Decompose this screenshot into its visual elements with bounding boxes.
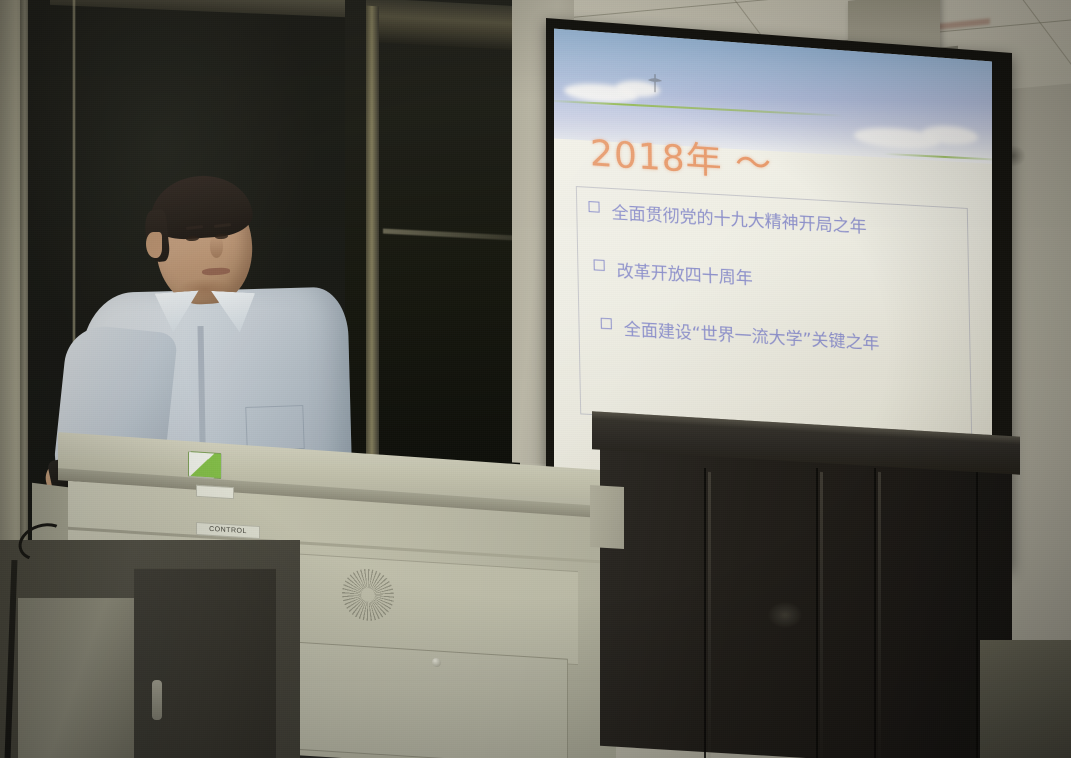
- lecture-hall-photo: 2018年 ～ 全面贯彻党的十九大精神开局之年 改革开放四十周年 全面建设“世界…: [0, 0, 1071, 758]
- cabinet-panel-edge: [878, 472, 881, 758]
- list-item: 全面建设“世界一流大学”关键之年: [601, 314, 991, 361]
- cabinet-seam: [816, 468, 818, 758]
- alcove-frame-top: [366, 0, 516, 50]
- speaker-grille-icon: [342, 567, 394, 622]
- cabinet-left-gap: [590, 485, 624, 549]
- bird-icon: [646, 72, 664, 95]
- cabinet-seam: [874, 468, 876, 758]
- lower-wall-light-area: [18, 598, 138, 758]
- cabinet-body: [600, 446, 1012, 758]
- lectern-cabinet-door[interactable]: [288, 641, 568, 758]
- cabinet-knob-icon[interactable]: [432, 658, 441, 668]
- floor-corner: [980, 640, 1071, 758]
- list-item: 改革开放四十周年: [593, 255, 989, 302]
- cabinet-seam: [704, 468, 706, 758]
- equipment-cabinet: [592, 424, 1022, 758]
- slide-title: 2018年 ～: [590, 124, 773, 188]
- presenter-ear: [146, 232, 162, 258]
- square-bullet-icon: [588, 201, 599, 213]
- square-bullet-icon: [601, 318, 612, 330]
- cabinet-panel-edge: [820, 472, 823, 758]
- list-item-label: 改革开放四十周年: [616, 257, 752, 290]
- square-bullet-icon: [594, 259, 605, 271]
- cabinet-seam: [976, 468, 978, 758]
- slide-bullet-list: 全面贯彻党的十九大精神开局之年 改革开放四十周年 全面建设“世界一流大学”关键之…: [588, 197, 991, 394]
- asset-sticker: [196, 485, 234, 499]
- shirt-pocket: [245, 405, 305, 451]
- lower-cabinet-door[interactable]: [134, 568, 276, 758]
- presenter-nose: [210, 236, 223, 258]
- door-handle-icon[interactable]: [152, 680, 162, 720]
- inspection-sticker: [188, 451, 222, 479]
- cabinet-panel-edge: [708, 472, 711, 758]
- cabinet-reflection: [768, 602, 802, 628]
- list-item-label: 全面建设“世界一流大学”关键之年: [624, 315, 880, 354]
